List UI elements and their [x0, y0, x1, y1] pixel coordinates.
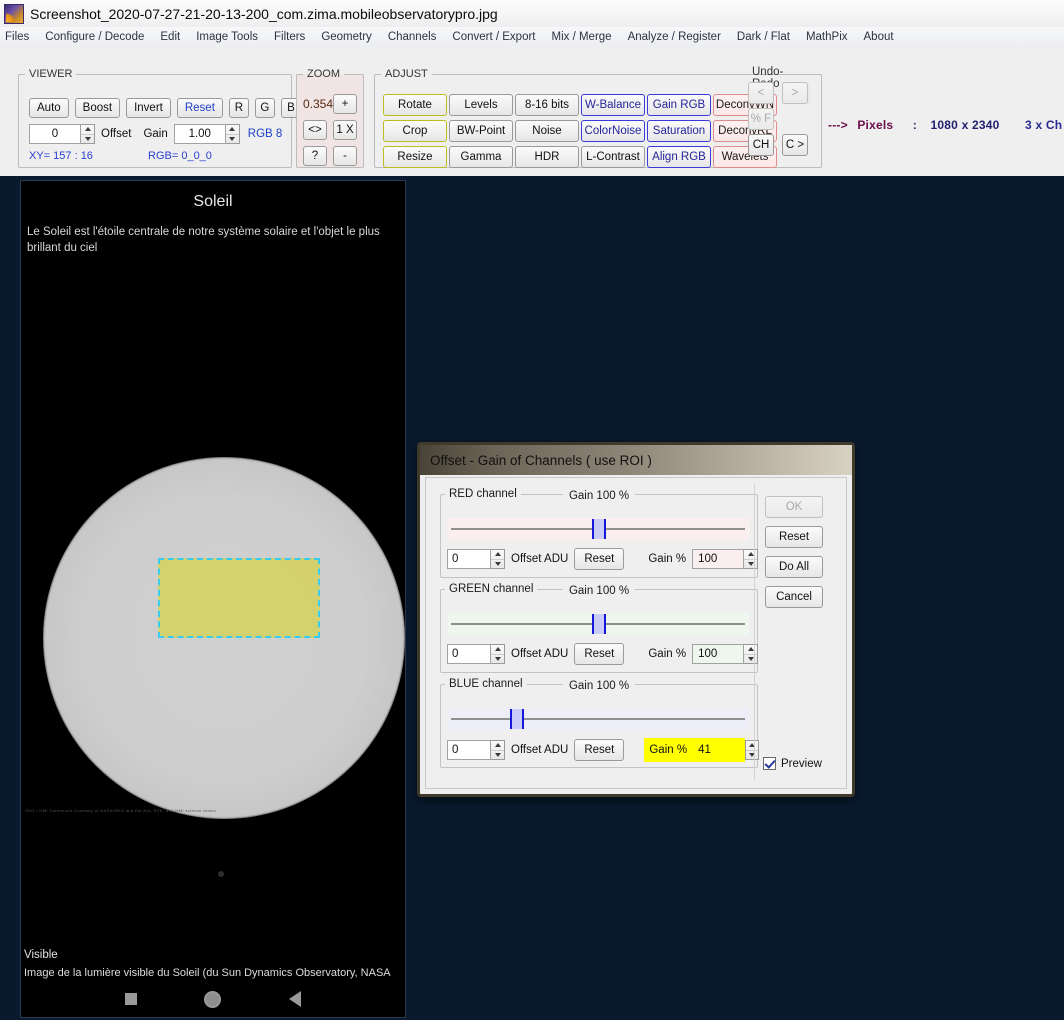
adjust-gain-rgb-button[interactable]: Gain RGB [647, 94, 711, 116]
viewer-status-row: XY= 157 : 16 RGB= 0_0_0 [29, 150, 212, 162]
menu-files[interactable]: Files [0, 31, 37, 43]
preview-label: Preview [781, 758, 822, 770]
viewer-green-channel-button[interactable]: G [255, 98, 275, 118]
blue-gain-slider[interactable] [447, 708, 749, 730]
dialog-title-text: Offset - Gain of Channels ( use ROI ) [430, 453, 652, 468]
blue-slider-track [451, 718, 745, 720]
red-slider-thumb[interactable] [592, 519, 606, 539]
menu-configure-decode[interactable]: Configure / Decode [37, 31, 152, 43]
viewer-auto-button[interactable]: Auto [29, 98, 69, 118]
dialog-do-all-button[interactable]: Do All [765, 556, 823, 578]
viewer-group-legend: VIEWER [25, 68, 76, 80]
sunspot [218, 871, 224, 877]
adjust-colornoise-button[interactable]: ColorNoise [581, 120, 645, 142]
viewer-offset-label: Offset [101, 128, 131, 140]
zoom-out-button[interactable]: - [333, 146, 357, 166]
preview-checkbox[interactable] [763, 757, 776, 770]
viewer-gain-label: Gain [143, 128, 167, 140]
android-navigation-bar [21, 985, 405, 1013]
blue-gain-input[interactable]: 41 [693, 740, 745, 760]
adjust-l-contrast-button[interactable]: L-Contrast [581, 146, 645, 168]
menu-edit[interactable]: Edit [152, 31, 188, 43]
percent-f-button[interactable]: % F [748, 108, 774, 130]
status-dimensions: 1080 x 2340 [931, 118, 1000, 132]
blue-offset-stepper[interactable] [491, 740, 505, 760]
adjust-button-grid: Rotate Levels 8-16 bits W-Balance Gain R… [383, 94, 777, 168]
offset-gain-dialog: Offset - Gain of Channels ( use ROI ) RE… [417, 442, 855, 797]
blue-gain-label: Gain % [649, 744, 687, 756]
menu-geometry[interactable]: Geometry [313, 31, 380, 43]
menu-analyze-register[interactable]: Analyze / Register [620, 31, 729, 43]
red-gain-caption: Gain 100 % [563, 490, 635, 502]
viewer-gain-input[interactable]: 1.00 [174, 124, 226, 144]
green-gain-caption: Gain 100 % [563, 585, 635, 597]
zoom-help-button[interactable]: ? [303, 146, 327, 166]
image-overlay-title: Soleil [21, 193, 405, 211]
dialog-body: RED channel Gain 100 % 0 Offset ADU Rese… [425, 477, 847, 789]
nav-back-icon [289, 991, 301, 1007]
green-channel-group: GREEN channel Gain 100 % 0 Offset ADU Re… [440, 583, 758, 673]
toolbar: VIEWER Auto Boost Invert Reset R G B 0 O… [0, 46, 1064, 177]
adjust-gamma-button[interactable]: Gamma [449, 146, 513, 168]
red-channel-legend: RED channel [445, 488, 521, 500]
menu-convert-export[interactable]: Convert / Export [444, 31, 543, 43]
red-gain-input[interactable]: 100 [692, 549, 744, 569]
adjust-8-16-bits-button[interactable]: 8-16 bits [515, 94, 579, 116]
adjust-resize-button[interactable]: Resize [383, 146, 447, 168]
viewer-button-row: Auto Boost Invert Reset R G B [29, 98, 301, 118]
adjust-w-balance-button[interactable]: W-Balance [581, 94, 645, 116]
green-offset-stepper[interactable] [491, 644, 505, 664]
viewer-red-channel-button[interactable]: R [229, 98, 249, 118]
status-colon: : [913, 118, 917, 132]
blue-reset-button[interactable]: Reset [574, 739, 624, 761]
roi-selection-rectangle[interactable] [158, 558, 320, 638]
zoom-group: ZOOM 0.354 + <> 1 X ? - [296, 68, 364, 168]
sun-disc [43, 457, 405, 819]
redo-button[interactable]: > [782, 82, 808, 104]
application-window: Screenshot_2020-07-27-21-20-13-200_com.z… [0, 0, 1064, 1020]
blue-gain-caption: Gain 100 % [563, 680, 635, 692]
viewer-invert-button[interactable]: Invert [126, 98, 171, 118]
zoom-1x-button[interactable]: 1 X [333, 120, 357, 140]
c-next-button[interactable]: C > [782, 134, 808, 156]
image-overlay-description: Le Soleil est l'étoile centrale de notre… [27, 225, 399, 256]
nav-recents-icon [125, 993, 137, 1005]
status-pixels-label: Pixels [857, 118, 893, 132]
viewer-boost-button[interactable]: Boost [75, 98, 120, 118]
viewer-reset-button[interactable]: Reset [177, 98, 223, 118]
dialog-reset-button[interactable]: Reset [765, 526, 823, 548]
image-footer-title: Visible [24, 949, 58, 961]
menu-dark-flat[interactable]: Dark / Flat [729, 31, 798, 43]
blue-gain-highlight: Gain % 41 [644, 738, 745, 762]
zoom-fit-button[interactable]: <> [303, 120, 327, 140]
image-info-status: ---> Pixels : 1080 x 2340 3 x Ch [828, 118, 1062, 132]
red-offset-label: Offset ADU [511, 553, 568, 565]
undo-redo-group: Undo-Redo < > % F 0 CH C > [752, 68, 816, 166]
adjust-levels-button[interactable]: Levels [449, 94, 513, 116]
dialog-titlebar[interactable]: Offset - Gain of Channels ( use ROI ) [420, 445, 852, 475]
red-offset-stepper[interactable] [491, 549, 505, 569]
viewer-gain-stepper[interactable] [226, 124, 240, 144]
menu-image-tools[interactable]: Image Tools [188, 31, 266, 43]
image-canvas[interactable]: Soleil Le Soleil est l'étoile centrale d… [20, 180, 406, 1018]
green-gain-input[interactable]: 100 [692, 644, 744, 664]
blue-channel-legend: BLUE channel [445, 678, 527, 690]
adjust-saturation-button[interactable]: Saturation [647, 120, 711, 142]
viewer-bitdepth-label: RGB 8 [248, 128, 283, 140]
green-gain-label: Gain % [648, 648, 686, 660]
adjust-group-legend: ADJUST [381, 68, 432, 80]
workspace: Soleil Le Soleil est l'étoile centrale d… [0, 176, 1064, 1020]
green-gain-slider[interactable] [447, 613, 749, 635]
viewer-group: VIEWER Auto Boost Invert Reset R G B 0 O… [18, 68, 292, 168]
zoom-level-value: 0.354 [303, 97, 333, 111]
menu-mix-merge[interactable]: Mix / Merge [544, 31, 620, 43]
menu-mathpix[interactable]: MathPix [798, 31, 856, 43]
blue-channel-group: BLUE channel Gain 100 % 0 Offset ADU Res… [440, 678, 758, 768]
green-channel-controls: 0 Offset ADU Reset Gain % 100 [447, 643, 758, 665]
dialog-cancel-button[interactable]: Cancel [765, 586, 823, 608]
blue-slider-thumb[interactable] [510, 709, 524, 729]
viewer-offset-input[interactable]: 0 [29, 124, 81, 144]
green-reset-button[interactable]: Reset [574, 643, 624, 665]
red-offset-input[interactable]: 0 [447, 549, 491, 569]
red-reset-button[interactable]: Reset [574, 548, 624, 570]
blue-offset-input[interactable]: 0 [447, 740, 491, 760]
viewer-offset-gain-row: 0 Offset Gain 1.00 RGB 8 [29, 124, 282, 144]
red-gain-slider[interactable] [447, 518, 749, 540]
green-offset-label: Offset ADU [511, 648, 568, 660]
green-slider-thumb[interactable] [592, 614, 606, 634]
viewer-offset-stepper[interactable] [81, 124, 95, 144]
dialog-preview-row[interactable]: Preview [763, 757, 822, 770]
nav-home-icon [204, 991, 221, 1008]
dialog-ok-button[interactable]: OK [765, 496, 823, 518]
adjust-rotate-button[interactable]: Rotate [383, 94, 447, 116]
red-channel-controls: 0 Offset ADU Reset Gain % 100 [447, 548, 758, 570]
adjust-align-rgb-button[interactable]: Align RGB [647, 146, 711, 168]
ch-button[interactable]: CH [748, 134, 774, 156]
window-title: Screenshot_2020-07-27-21-20-13-200_com.z… [30, 6, 498, 22]
image-watermark: SDO / HMI Continuum Courtesy of NASA/SDO… [25, 808, 216, 813]
viewer-rgb-readout: RGB= 0_0_0 [148, 150, 212, 162]
menu-channels[interactable]: Channels [380, 31, 445, 43]
app-icon [4, 4, 24, 24]
menu-filters[interactable]: Filters [266, 31, 313, 43]
green-offset-input[interactable]: 0 [447, 644, 491, 664]
adjust-noise-button[interactable]: Noise [515, 120, 579, 142]
adjust-bw-point-button[interactable]: BW-Point [449, 120, 513, 142]
menu-about[interactable]: About [856, 31, 902, 43]
adjust-crop-button[interactable]: Crop [383, 120, 447, 142]
undo-redo-buttons: < > % F 0 CH C > [782, 82, 810, 104]
menu-bar: Files Configure / Decode Edit Image Tool… [0, 27, 1064, 47]
dialog-action-panel: OK Reset Do All Cancel Preview [754, 484, 837, 780]
red-gain-label: Gain % [648, 553, 686, 565]
image-footer-text: Image de la lumière visible du Soleil (d… [24, 967, 401, 979]
adjust-hdr-button[interactable]: HDR [515, 146, 579, 168]
viewer-xy-readout: XY= 157 : 16 [29, 150, 93, 162]
window-titlebar: Screenshot_2020-07-27-21-20-13-200_com.z… [0, 0, 1064, 28]
blue-offset-label: Offset ADU [511, 744, 568, 756]
zoom-group-legend: ZOOM [303, 68, 344, 80]
red-channel-group: RED channel Gain 100 % 0 Offset ADU Rese… [440, 488, 758, 578]
blue-channel-controls: 0 Offset ADU Reset Gain % 41 [447, 738, 759, 762]
status-arrow: ---> [828, 118, 848, 132]
undo-button[interactable]: < [748, 82, 774, 104]
zoom-in-button[interactable]: + [333, 94, 357, 114]
green-channel-legend: GREEN channel [445, 583, 537, 595]
status-channels: 3 x Ch [1025, 118, 1062, 132]
